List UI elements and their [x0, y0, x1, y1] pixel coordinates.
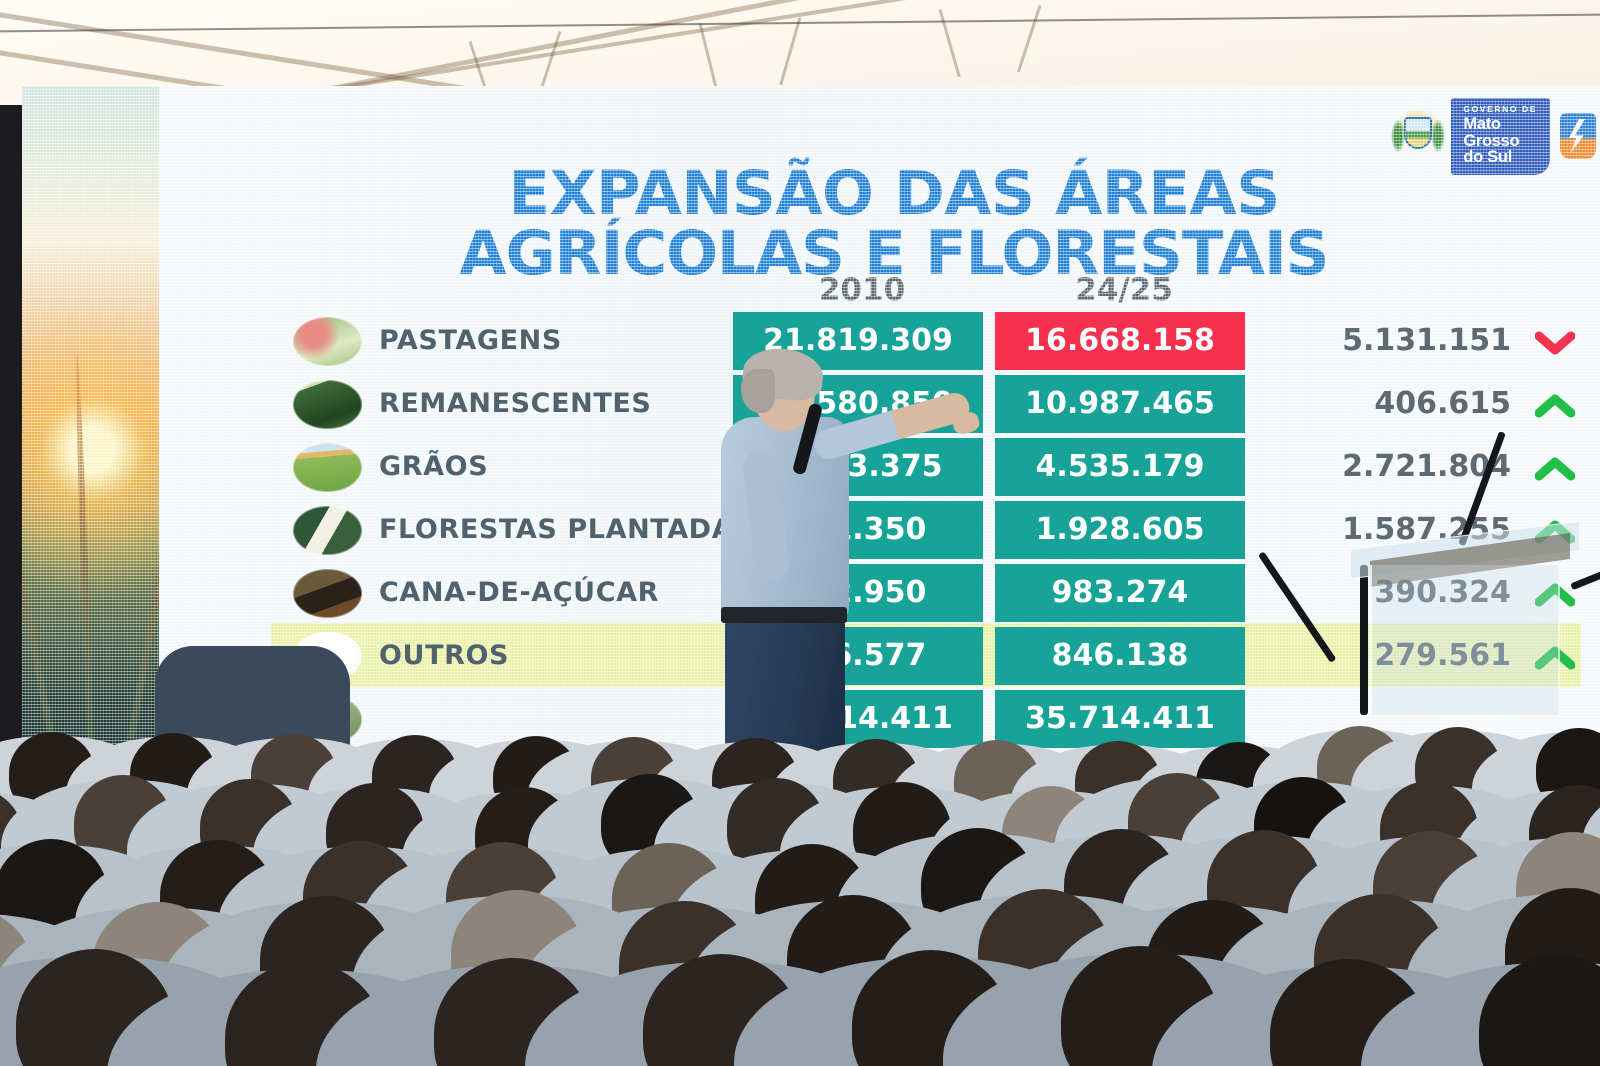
row-label: FLORESTAS PLANTADAS [379, 514, 753, 545]
cell-2425: 1.928.605 [995, 501, 1245, 559]
row-thumbnail-icon [293, 569, 362, 618]
row-label: REMANESCENTES [379, 388, 651, 419]
coat-of-arms-icon [1389, 107, 1447, 165]
audience [0, 636, 1600, 1066]
cell-2425: 4.535.179 [995, 438, 1245, 496]
column-header-2425: 24/25 [1003, 272, 1245, 308]
gov-prefix-label: GOVERNO DE [1463, 105, 1537, 114]
speaker-pointing-arm [811, 389, 973, 462]
trend-up-icon [1535, 456, 1575, 482]
column-header-2010: 2010 [741, 272, 983, 308]
government-logo: GOVERNO DE Mato Grosso do Sul [1451, 98, 1550, 175]
cell-2425: 983.274 [995, 564, 1245, 622]
page-title: EXPANSÃO DAS ÁREAS AGRÍCOLAS E FLORESTAI… [369, 164, 1419, 284]
gov-line1-label: Mato [1463, 116, 1537, 133]
cell-difference: 5.131.151 [1269, 312, 1519, 370]
cell-2425: 16.668.158 [995, 312, 1245, 370]
row-label: PASTAGENS [379, 325, 562, 356]
event-scene: GOVERNO DE Mato Grosso do Sul EXPANSÃO D… [0, 0, 1600, 1066]
cell-difference: 406.615 [1269, 375, 1519, 433]
row-thumbnail-icon [293, 317, 362, 366]
trend-up-icon [1535, 393, 1575, 419]
row-thumbnail-icon [293, 443, 362, 492]
gov-line3-label: do Sul [1463, 149, 1537, 166]
microphone-arm-far-right [1570, 564, 1600, 590]
cell-2425: 10.987.465 [995, 375, 1245, 433]
row-label: GRÃOS [379, 451, 488, 482]
table-column-headers: 2010 24/25 [279, 272, 1569, 310]
row-label: CANA-DE-AÇÚCAR [379, 577, 659, 608]
gov-line2-label: Grosso [1463, 133, 1537, 150]
trend-down-icon [1535, 330, 1575, 356]
row-thumbnail-icon [293, 506, 362, 555]
row-thumbnail-icon [293, 380, 362, 429]
secondary-logo-icon [1554, 107, 1600, 165]
logo-group: GOVERNO DE Mato Grosso do Sul [1389, 100, 1600, 172]
